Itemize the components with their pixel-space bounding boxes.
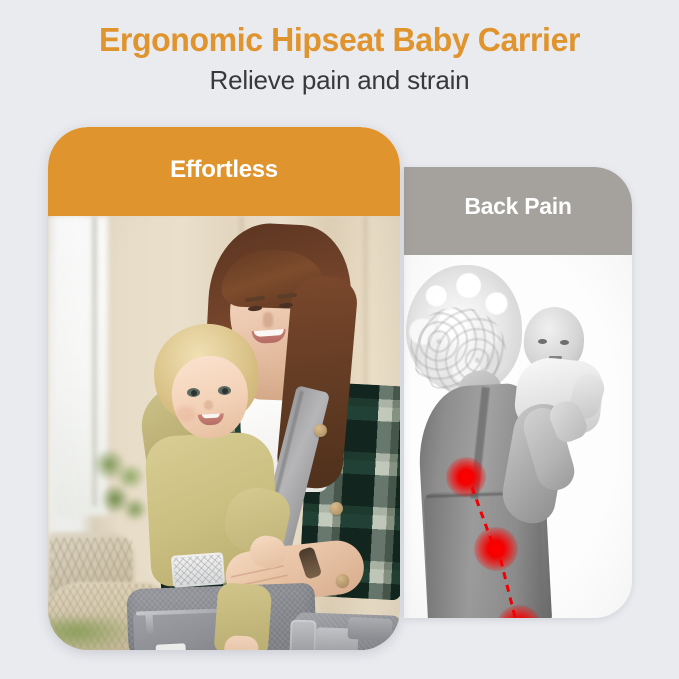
baby-nose — [204, 400, 213, 410]
carrier-mesh-texture — [173, 554, 223, 585]
baby-left-pupil — [191, 390, 197, 396]
effortless-label: Effortless — [48, 156, 400, 184]
back-pain-label: Back Pain — [404, 193, 632, 220]
baby-right-pupil — [222, 388, 228, 394]
page-title: Ergonomic Hipseat Baby Carrier — [10, 20, 669, 60]
back-pain-photo — [404, 255, 632, 618]
hipseat-brand-tag — [155, 643, 186, 650]
jacket-button — [336, 574, 349, 587]
belt-strap-end — [347, 617, 392, 641]
jacket-button — [330, 502, 343, 515]
jacket-button — [314, 424, 327, 437]
back-pain-panel: Back Pain — [404, 167, 632, 618]
belt-buckle-icon — [289, 620, 316, 650]
houseplant — [92, 444, 150, 530]
baby-right-eye — [560, 340, 569, 345]
effortless-photo — [48, 216, 400, 650]
mother-nose — [263, 312, 273, 328]
zipper-pull-icon — [145, 612, 154, 634]
pain-marker-icon-neck — [446, 457, 486, 497]
baby-cheek-blush — [176, 406, 196, 422]
header: Ergonomic Hipseat Baby Carrier Relieve p… — [0, 0, 679, 112]
page-subtitle: Relieve pain and strain — [0, 63, 679, 97]
floor-green-accent — [48, 618, 134, 650]
baby-left-eye — [538, 339, 547, 344]
pain-marker-icon-mid-back — [474, 527, 518, 571]
effortless-panel: Effortless — [48, 127, 400, 650]
